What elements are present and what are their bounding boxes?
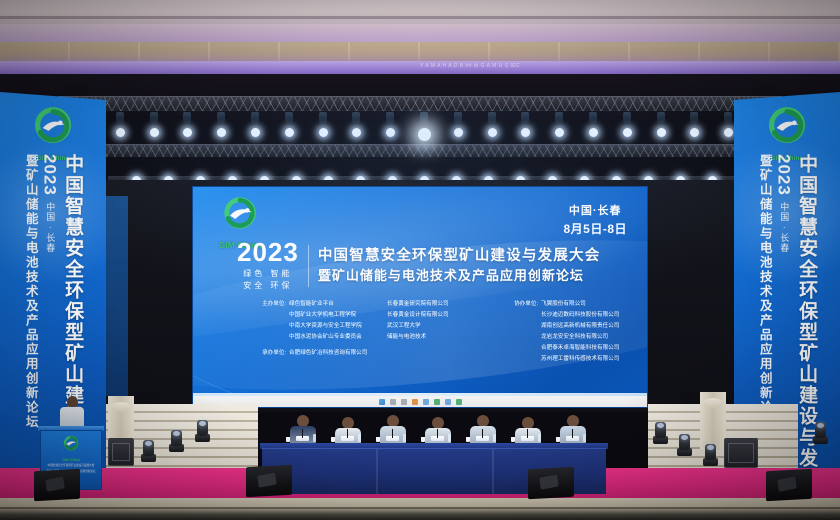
- stage-light: [454, 128, 463, 137]
- host-item: 长春黄金设计院有限公司: [387, 310, 483, 321]
- water-bottle: [493, 434, 496, 442]
- screen-dates: 8月5日-8日: [563, 220, 627, 238]
- microphone: [347, 429, 348, 438]
- water-bottle: [538, 434, 541, 442]
- banner-right-logo: GIM China: [760, 106, 814, 162]
- screen-year: 2023: [237, 239, 299, 265]
- speaker-at-podium: [60, 396, 84, 430]
- screen-year-block: 2023 绿色 智能 安全 环保: [237, 239, 299, 293]
- light-fixture: [352, 112, 360, 123]
- tea-cup: [556, 437, 560, 442]
- banner-left-logo: GIM China: [26, 106, 80, 162]
- coorganizer-label: 协办单位:: [491, 299, 541, 364]
- main-led-screen: GIM China 中国·长春 8月5日-8日 2023 绿色 智能 安全 环保…: [192, 186, 648, 408]
- truss-middle: [92, 144, 752, 157]
- light-fixture: [150, 112, 158, 123]
- microphone: [527, 429, 528, 438]
- screen-title-sub: 暨矿山储能与电池技术及产品应用创新论坛: [318, 267, 601, 285]
- organizer-value: 合肥绿色矿冶科技咨询有限公司: [289, 348, 367, 359]
- coorganizer-item: 湖南创远高新机械有限责任公司: [541, 321, 619, 332]
- light-fixture: [488, 112, 496, 123]
- stage-light: [285, 128, 294, 137]
- light-fixture: [555, 112, 563, 123]
- microphone: [437, 429, 438, 438]
- stage-light: [251, 128, 260, 137]
- stone-wall-band: [0, 42, 840, 62]
- title-divider: [308, 245, 309, 287]
- stage-light: [521, 128, 530, 137]
- host-col-b: 长春黄金研究院有限公司 长春黄金设计院有限公司 武汉工程大学 储能与电池技术: [387, 299, 483, 343]
- light-fixture: [657, 112, 665, 123]
- light-fixture: [183, 112, 191, 123]
- stage-light: [183, 128, 192, 137]
- mail-icon[interactable]: [445, 399, 451, 405]
- screen-title-row: 2023 绿色 智能 安全 环保 中国智慧安全环保型矿山建设与发展大会 暨矿山储…: [237, 239, 637, 293]
- water-bottle: [448, 434, 451, 442]
- light-fixture: [319, 112, 327, 123]
- host-item: 绿色智能矿业平台: [289, 299, 387, 310]
- light-fixture: [521, 112, 529, 123]
- stage-light: [555, 128, 564, 137]
- host-item: 储能与电池技术: [387, 332, 483, 343]
- moving-head-light: [194, 418, 211, 442]
- flight-case: [724, 438, 758, 468]
- light-fixture: [116, 112, 124, 123]
- light-fixture: [690, 112, 698, 123]
- sponsors-coorganizer-group: 协办单位: 飞翼股份有限公司 长沙迪迈数码科技股份有限公司 湖南创远高新机械有限…: [483, 299, 633, 364]
- tea-cup: [331, 437, 335, 442]
- screen-location-block: 中国·长春 8月5日-8日: [563, 203, 627, 238]
- stage-monitor-speaker: [528, 467, 574, 499]
- coorganizer-item: 龙岩龙安安全科技有限公司: [541, 332, 619, 343]
- coorganizer-list: 飞翼股份有限公司 长沙迪迈数码科技股份有限公司 湖南创远高新机械有限责任公司 龙…: [541, 299, 619, 364]
- gim-logo-icon: [765, 106, 809, 150]
- organizer-label: 承办单位:: [235, 348, 289, 359]
- light-fixture: [454, 112, 462, 123]
- conference-stage-photo: Y A M A H A D B ## di G A M U S IEC GIM …: [0, 0, 840, 520]
- host-label: 主办单位:: [235, 299, 289, 343]
- stage-monitor-speaker: [246, 465, 292, 497]
- microphone: [392, 429, 393, 438]
- coorganizer-item: 飞翼股份有限公司: [541, 299, 619, 310]
- podium-logo-text: GIM China: [41, 458, 101, 462]
- stage-light: [352, 128, 361, 137]
- light-fixture: [420, 112, 428, 123]
- screen-location: 中国·长春: [563, 203, 627, 220]
- screen-title-main: 中国智慧安全环保型矿山建设与发展大会: [318, 247, 601, 267]
- host-item: 中国矿业大学机电工程学院: [289, 310, 387, 321]
- tea-cup: [376, 437, 380, 442]
- banner-left-title-sub: 暨矿山储能与电池技术及产品应用创新论坛: [24, 154, 37, 484]
- win-icon[interactable]: [379, 399, 385, 405]
- coorganizer-item: 合肥泰禾卓海智能科技有限公司: [541, 343, 619, 354]
- banner-right-year: 2023: [774, 154, 794, 196]
- windows-taskbar[interactable]: [193, 396, 647, 407]
- side-screen-strip: [106, 196, 128, 396]
- moving-head-light: [652, 420, 669, 444]
- banner-right-location: 中国·长春: [779, 202, 788, 253]
- stage-monitor-speaker: [34, 469, 80, 501]
- coorganizer-item: 长沙迪迈数码科技股份有限公司: [541, 310, 619, 321]
- ceiling-led-strip: Y A M A H A D B ## di G A M U S IEC: [0, 61, 840, 75]
- stage-light: [217, 128, 226, 137]
- screen-sponsors: 主办单位: 绿色智能矿业平台 中国矿业大学机电工程学院 中南大学资源与安全工程学…: [235, 299, 633, 364]
- search-icon[interactable]: [390, 399, 396, 405]
- tea-cup: [466, 437, 470, 442]
- coorganizer-item: 苏州理工雷科传感技术有限公司: [541, 354, 619, 365]
- stage-light: [319, 128, 328, 137]
- screen-slogan-2: 安全 环保: [237, 280, 299, 292]
- stage-monitor-speaker: [766, 469, 812, 501]
- water-bottle: [358, 434, 361, 442]
- banner-left-year: 2023: [40, 154, 60, 196]
- light-fixture: [386, 112, 394, 123]
- tea-cup: [421, 437, 425, 442]
- light-fixture: [724, 112, 732, 123]
- tea-cup: [286, 437, 290, 442]
- moving-head-light: [812, 420, 829, 444]
- light-fixture: [251, 112, 259, 123]
- stage-light: [418, 128, 431, 141]
- truss-upper: [58, 96, 782, 112]
- water-bottle: [583, 434, 586, 442]
- gim-logo-icon: [220, 195, 260, 235]
- host-item: 中国水泥协会矿山专业委员会: [289, 332, 387, 343]
- stage-light: [690, 128, 699, 137]
- sponsors-host-group: 主办单位: 绿色智能矿业平台 中国矿业大学机电工程学院 中南大学资源与安全工程学…: [235, 299, 483, 364]
- gim-logo-icon: [62, 435, 80, 453]
- tea-cup: [511, 437, 515, 442]
- moving-head-light: [676, 432, 693, 456]
- microphone: [572, 429, 573, 438]
- host-item: 中南大学资源与安全工程学院: [289, 321, 387, 332]
- light-fixture: [285, 112, 293, 123]
- foreground-ledge: [0, 498, 840, 520]
- light-fixture: [217, 112, 225, 123]
- screen-titles: 中国智慧安全环保型矿山建设与发展大会 暨矿山储能与电池技术及产品应用创新论坛: [318, 247, 601, 284]
- stage-light: [150, 128, 159, 137]
- moving-head-light: [702, 442, 719, 466]
- banner-left-logo-text: GIM China: [26, 156, 80, 162]
- stage-light: [116, 128, 125, 137]
- host-col-a: 绿色智能矿业平台 中国矿业大学机电工程学院 中南大学资源与安全工程学院 中国水泥…: [289, 299, 387, 343]
- banner-right-logo-text: GIM China: [760, 156, 814, 162]
- explorer-icon[interactable]: [412, 399, 418, 405]
- water-bottle: [403, 434, 406, 442]
- edge-icon[interactable]: [423, 399, 429, 405]
- light-fixture: [589, 112, 597, 123]
- microphone: [302, 429, 303, 438]
- ceiling-moulding: [0, 16, 840, 19]
- stage-light: [657, 128, 666, 137]
- stage-light: [488, 128, 497, 137]
- host-item: 武汉工程大学: [387, 321, 483, 332]
- gim-logo-icon: [31, 106, 75, 150]
- screen-slogan-1: 绿色 智能: [237, 268, 299, 280]
- stage-light: [386, 128, 395, 137]
- stage-light: [623, 128, 632, 137]
- banner-left-location: 中国·长春: [45, 202, 54, 253]
- teams-icon[interactable]: [456, 399, 462, 405]
- widgets-icon[interactable]: [401, 399, 407, 405]
- flight-case: [108, 438, 134, 466]
- moving-head-light: [140, 438, 157, 462]
- host-item: 长春黄金研究院有限公司: [387, 299, 483, 310]
- light-fixture: [623, 112, 631, 123]
- moving-head-light: [168, 428, 185, 452]
- led-strip-text: Y A M A H A D B ## di G A M U S IEC: [420, 63, 520, 69]
- ceiling-uplight-glow: [0, 24, 840, 44]
- store-icon[interactable]: [434, 399, 440, 405]
- microphone: [482, 429, 483, 438]
- water-bottle: [313, 434, 316, 442]
- stage-light: [589, 128, 598, 137]
- stage-light: [724, 128, 733, 137]
- podium-line-1: 中国智慧安全环保型矿山建设与发展大会: [41, 464, 101, 468]
